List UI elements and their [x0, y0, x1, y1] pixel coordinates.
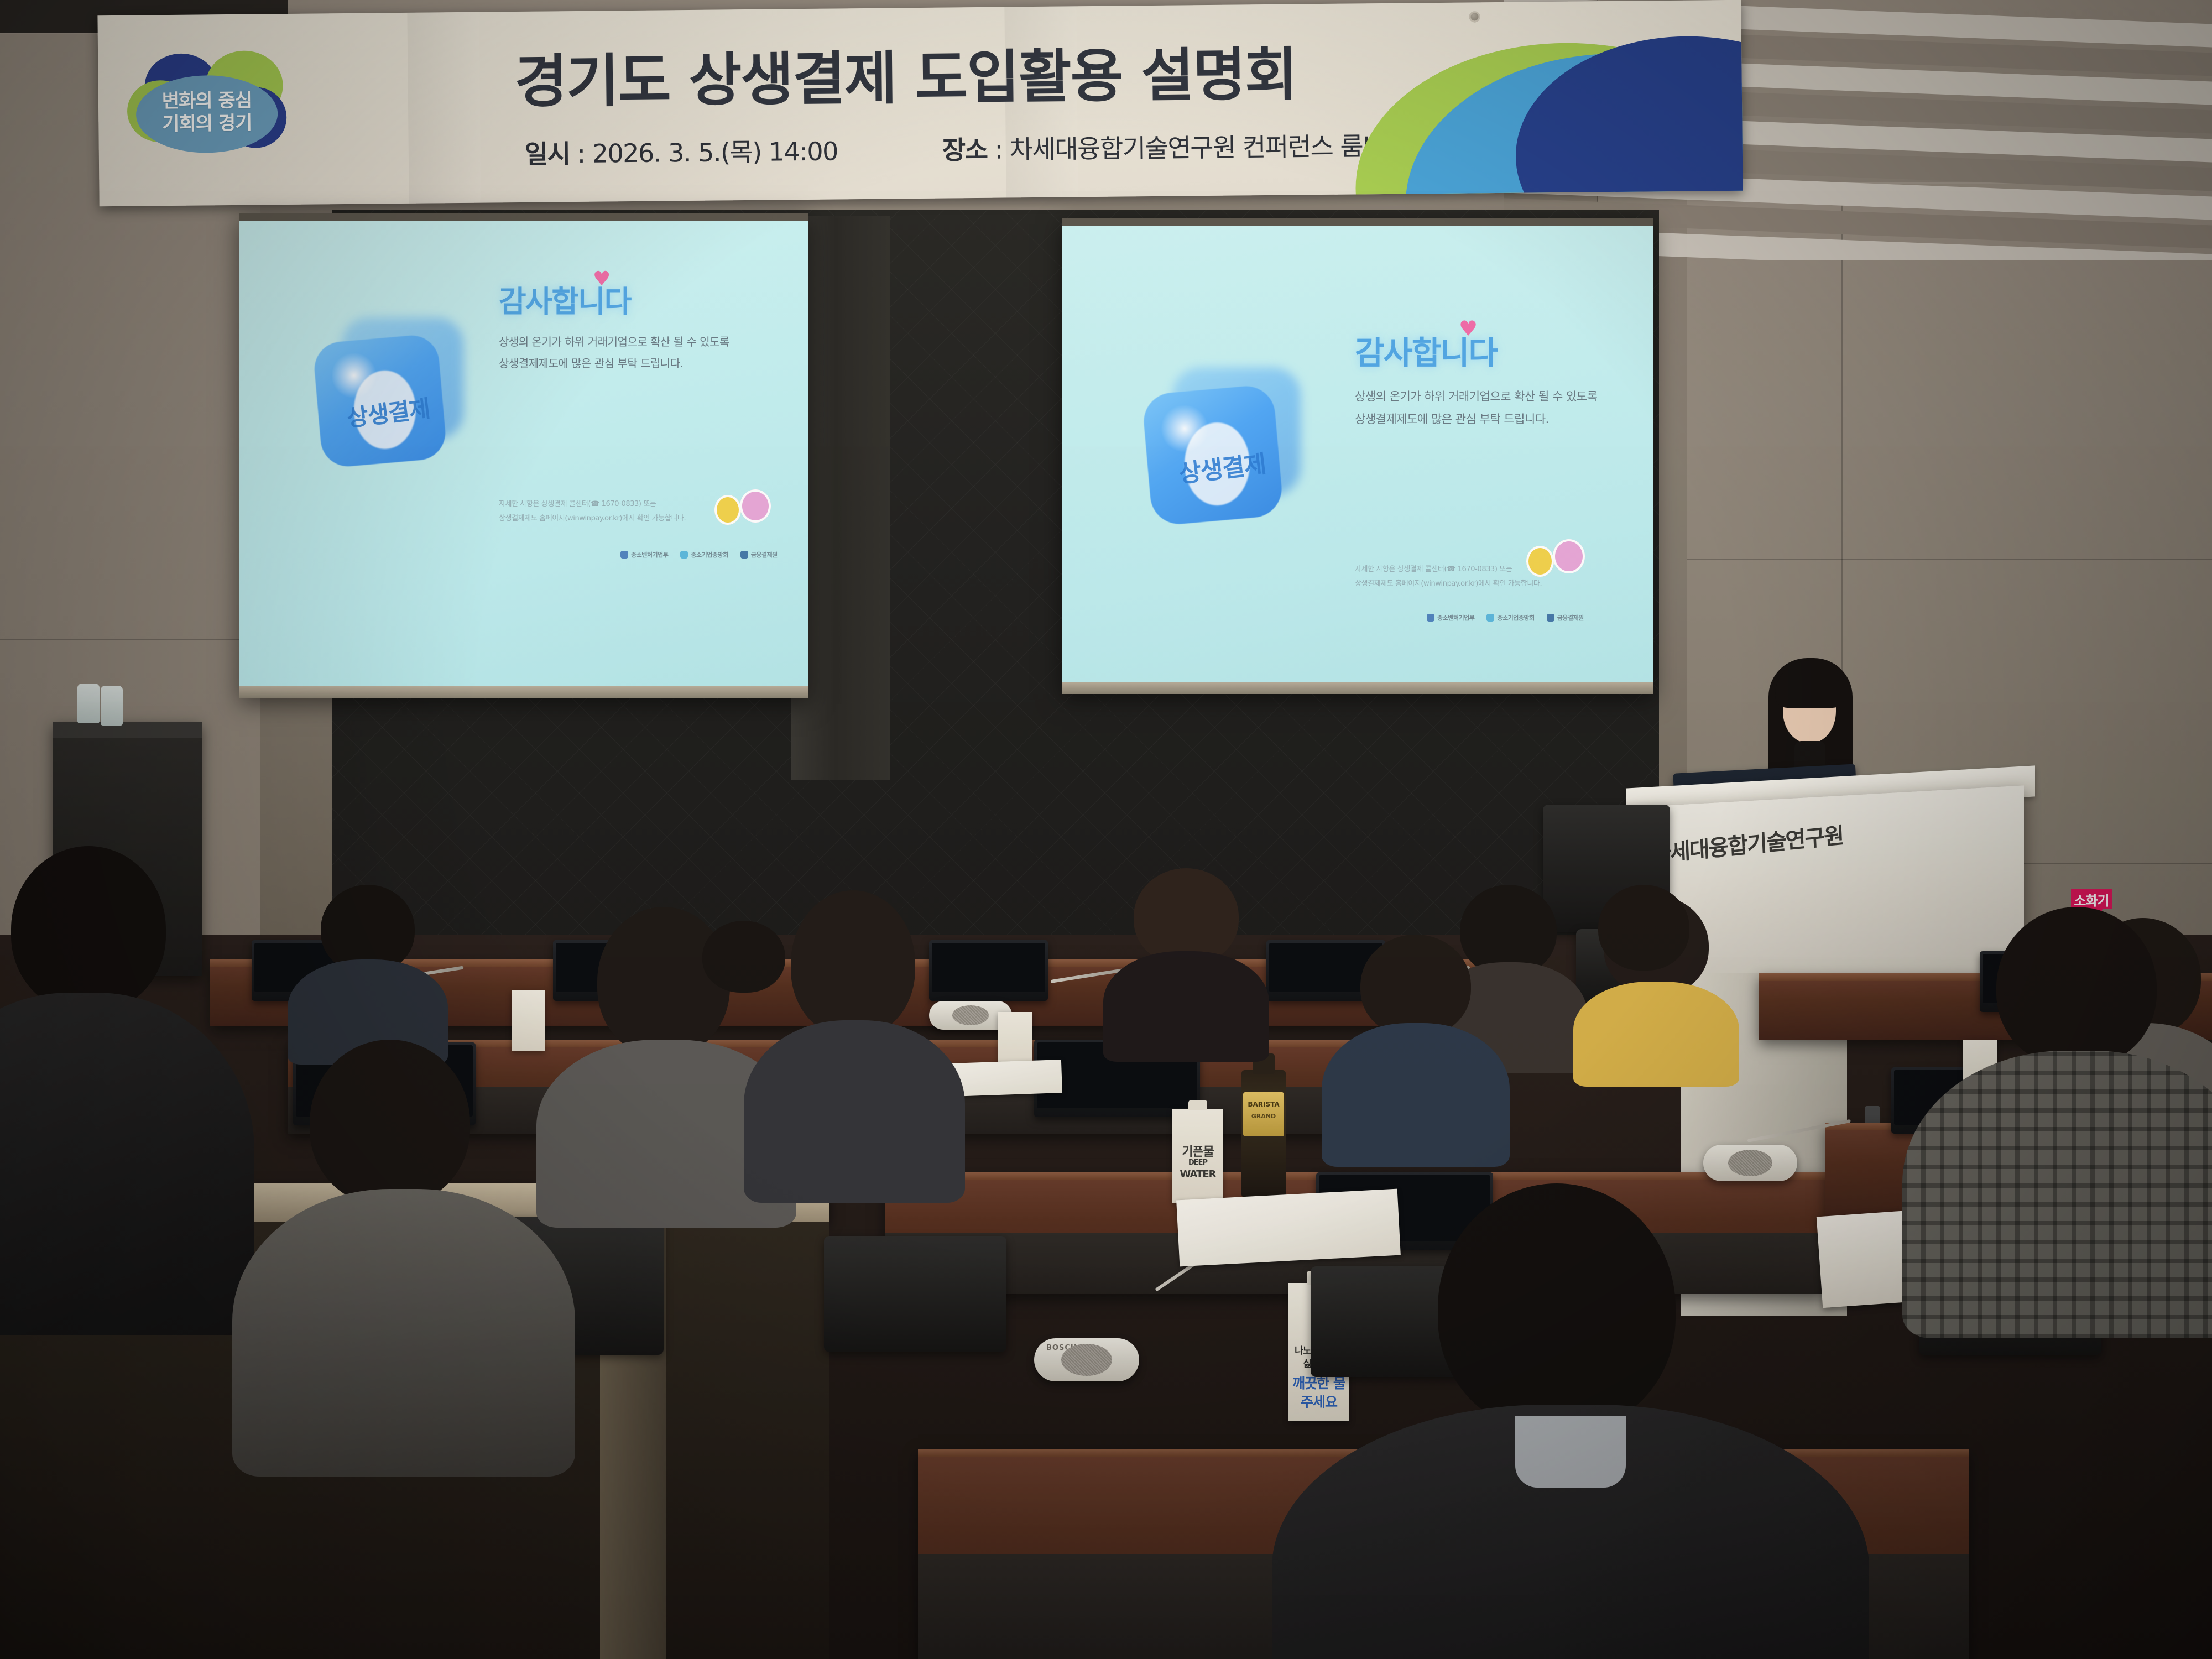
screen-frame-bottom — [1062, 682, 1653, 694]
head — [1134, 868, 1239, 965]
fire-extinguisher-handle — [1865, 1106, 1880, 1125]
banner-title: 경기도 상생결제 도입활용 설명회 — [280, 25, 1531, 121]
conference-mic-unit: BOSCH — [1034, 1338, 1139, 1381]
screen-frame-top — [1062, 218, 1653, 226]
slide-body-line-1: 상생의 온기가 하위 거래기업으로 확산 될 수 있도록 — [499, 331, 786, 353]
bee-mascot — [1526, 546, 1554, 577]
logo-line-1: 변화의 중심 — [162, 90, 252, 113]
sangsaeng-app-icon: 상생결제 — [1134, 367, 1311, 544]
org-logo-label: 금융결제원 — [1557, 613, 1584, 622]
shoulders — [744, 1020, 965, 1203]
org-logo-label: 중소벤처기업부 — [1437, 613, 1474, 622]
mic-grille-icon — [952, 1005, 989, 1025]
logo-line-2: 기회의 경기 — [162, 112, 252, 135]
org-logo-label: 중소기업중앙회 — [691, 550, 728, 559]
slide-thanks-left: 감사합니다 — [499, 277, 630, 321]
banner-date: 일시 : 2026. 3. 5.(목) 14:00 — [525, 131, 838, 170]
shirt-collar — [1515, 1416, 1626, 1488]
org-mark-icon — [620, 551, 628, 559]
flower-mascot — [740, 489, 771, 523]
banner-date-value: : 2026. 3. 5.(목) 14:00 — [570, 136, 838, 169]
sangsaeng-app-icon: 상생결제 — [305, 317, 471, 483]
slide-footer-right: 자세한 사항은 상생결제 콜센터(☎ 1670-0833) 또는 상생결제제도 … — [1355, 562, 1648, 591]
slide-body-right: 상생의 온기가 하위 거래기업으로 확산 될 수 있도록 상생결제제도에 많은 … — [1355, 385, 1648, 431]
shoulders — [232, 1189, 575, 1477]
deep-water-carton: 기픈물 DEEP WATER — [1172, 1109, 1223, 1203]
handout-paper — [1176, 1189, 1401, 1267]
org-mark-icon — [740, 551, 748, 559]
slide-right: 상생결제 감사합니다 ♥ 상생의 온기가 하위 거래기업으로 확산 될 수 있도… — [1062, 226, 1653, 682]
projection-screen-right: 상생결제 감사합니다 ♥ 상생의 온기가 하위 거래기업으로 확산 될 수 있도… — [1062, 218, 1653, 694]
gyeonggi-logo: 변화의 중심 기회의 경기 — [127, 50, 287, 157]
mascot-characters-left — [714, 486, 775, 536]
cabinet-top — [53, 722, 202, 738]
carton-brand-line-2: DEEP — [1172, 1159, 1223, 1167]
screen-frame-bottom — [239, 686, 808, 698]
conference-mic-unit — [1703, 1145, 1797, 1181]
fire-extinguisher-sign: 소화기 — [2071, 889, 2112, 909]
org-mark-icon — [680, 551, 688, 559]
audience-chair — [824, 1236, 1006, 1352]
logo-text: 변화의 중심 기회의 경기 — [127, 89, 287, 137]
shoulders — [1322, 1023, 1510, 1167]
slide-footer-line-1: 자세한 사항은 상생결제 콜센터(☎ 1670-0833) 또는 — [1355, 562, 1648, 577]
shoulders — [1573, 982, 1739, 1087]
slide-body-left: 상생의 온기가 하위 거래기업으로 확산 될 수 있도록 상생결제제도에 많은 … — [499, 331, 786, 374]
projection-screen-left: 상생결제 감사합니다 ♥ 상생의 온기가 하위 거래기업으로 확산 될 수 있도… — [239, 213, 808, 698]
slide-body-line-2: 상생결제제도에 많은 관심 부탁 드립니다. — [1355, 408, 1648, 431]
head — [1438, 1183, 1676, 1432]
head — [1598, 885, 1689, 971]
slide-footer-line-2: 상생결제제도 홈페이지(winwinpay.or.kr)에서 확인 가능합니다. — [1355, 577, 1648, 591]
wall-seam-b — [1687, 559, 2212, 560]
org-logo-item: 중소기업중앙회 — [680, 550, 728, 559]
carton-brand-line-1: 기픈물 — [1172, 1142, 1223, 1160]
org-logos-right: 중소벤처기업부 중소기업중앙회 금융결제원 — [1427, 613, 1584, 622]
org-logo-item: 금융결제원 — [1547, 613, 1584, 622]
carton-brand-line-3: WATER — [1172, 1168, 1223, 1180]
org-logos-left: 중소벤처기업부 중소기업중앙회 금융결제원 — [620, 550, 778, 559]
org-logo-item: 금융결제원 — [740, 550, 778, 559]
mic-grille-icon — [1061, 1344, 1112, 1376]
org-mark-icon — [1547, 614, 1554, 622]
slide-body-line-2: 상생결제제도에 많은 관심 부탁 드립니다. — [499, 353, 786, 374]
org-logo-item: 중소벤처기업부 — [620, 550, 668, 559]
conference-room-photo: 변화의 중심 기회의 경기 경기도 상생결제 도입활용 설명회 일시 : 202… — [0, 0, 2212, 1659]
slide-left: 상생결제 감사합니다 ♥ 상생의 온기가 하위 거래기업으로 확산 될 수 있도… — [239, 221, 808, 686]
carton-cap — [1188, 1100, 1207, 1110]
table-monitor — [929, 940, 1048, 1001]
head — [310, 1040, 470, 1206]
head — [1996, 907, 2157, 1067]
org-logo-label: 중소벤처기업부 — [631, 550, 668, 559]
head — [597, 907, 730, 1056]
slide-body-line-1: 상생의 온기가 하위 거래기업으로 확산 될 수 있도록 — [1355, 385, 1648, 408]
head — [1360, 935, 1471, 1037]
monitor-screen — [932, 943, 1045, 992]
banner-date-label: 일시 — [525, 139, 570, 169]
org-logo-label: 중소기업중앙회 — [1497, 613, 1534, 622]
water-bottle — [101, 686, 123, 726]
mic-grille-icon — [1728, 1150, 1772, 1176]
shoulders — [1902, 1051, 2212, 1338]
head — [791, 890, 915, 1037]
mascot-characters-right — [1526, 536, 1593, 589]
wall-seam-a — [0, 639, 260, 640]
bee-mascot — [714, 495, 741, 525]
banner-place-label: 장소 — [942, 135, 988, 165]
org-logo-label: 금융결제원 — [751, 550, 778, 559]
head — [702, 921, 785, 993]
screen-frame-top — [239, 213, 808, 221]
bottle-label-line-1: BARISTA — [1243, 1100, 1284, 1108]
org-mark-icon — [1427, 614, 1434, 622]
banner-eyelet — [1469, 11, 1480, 22]
water-carton-small — [512, 990, 545, 1051]
org-logo-item: 중소벤처기업부 — [1427, 613, 1474, 622]
flower-mascot — [1553, 539, 1585, 573]
eco-carton-line-4: 주세요 — [1288, 1391, 1349, 1411]
shoulders — [1103, 951, 1269, 1062]
water-bottle — [77, 684, 100, 723]
head — [11, 846, 166, 1012]
org-mark-icon — [1486, 614, 1494, 622]
bottle-label-line-2: GRAND — [1243, 1113, 1284, 1120]
event-banner: 변화의 중심 기회의 경기 경기도 상생결제 도입활용 설명회 일시 : 202… — [97, 0, 1743, 206]
org-logo-item: 중소기업중앙회 — [1486, 613, 1534, 622]
